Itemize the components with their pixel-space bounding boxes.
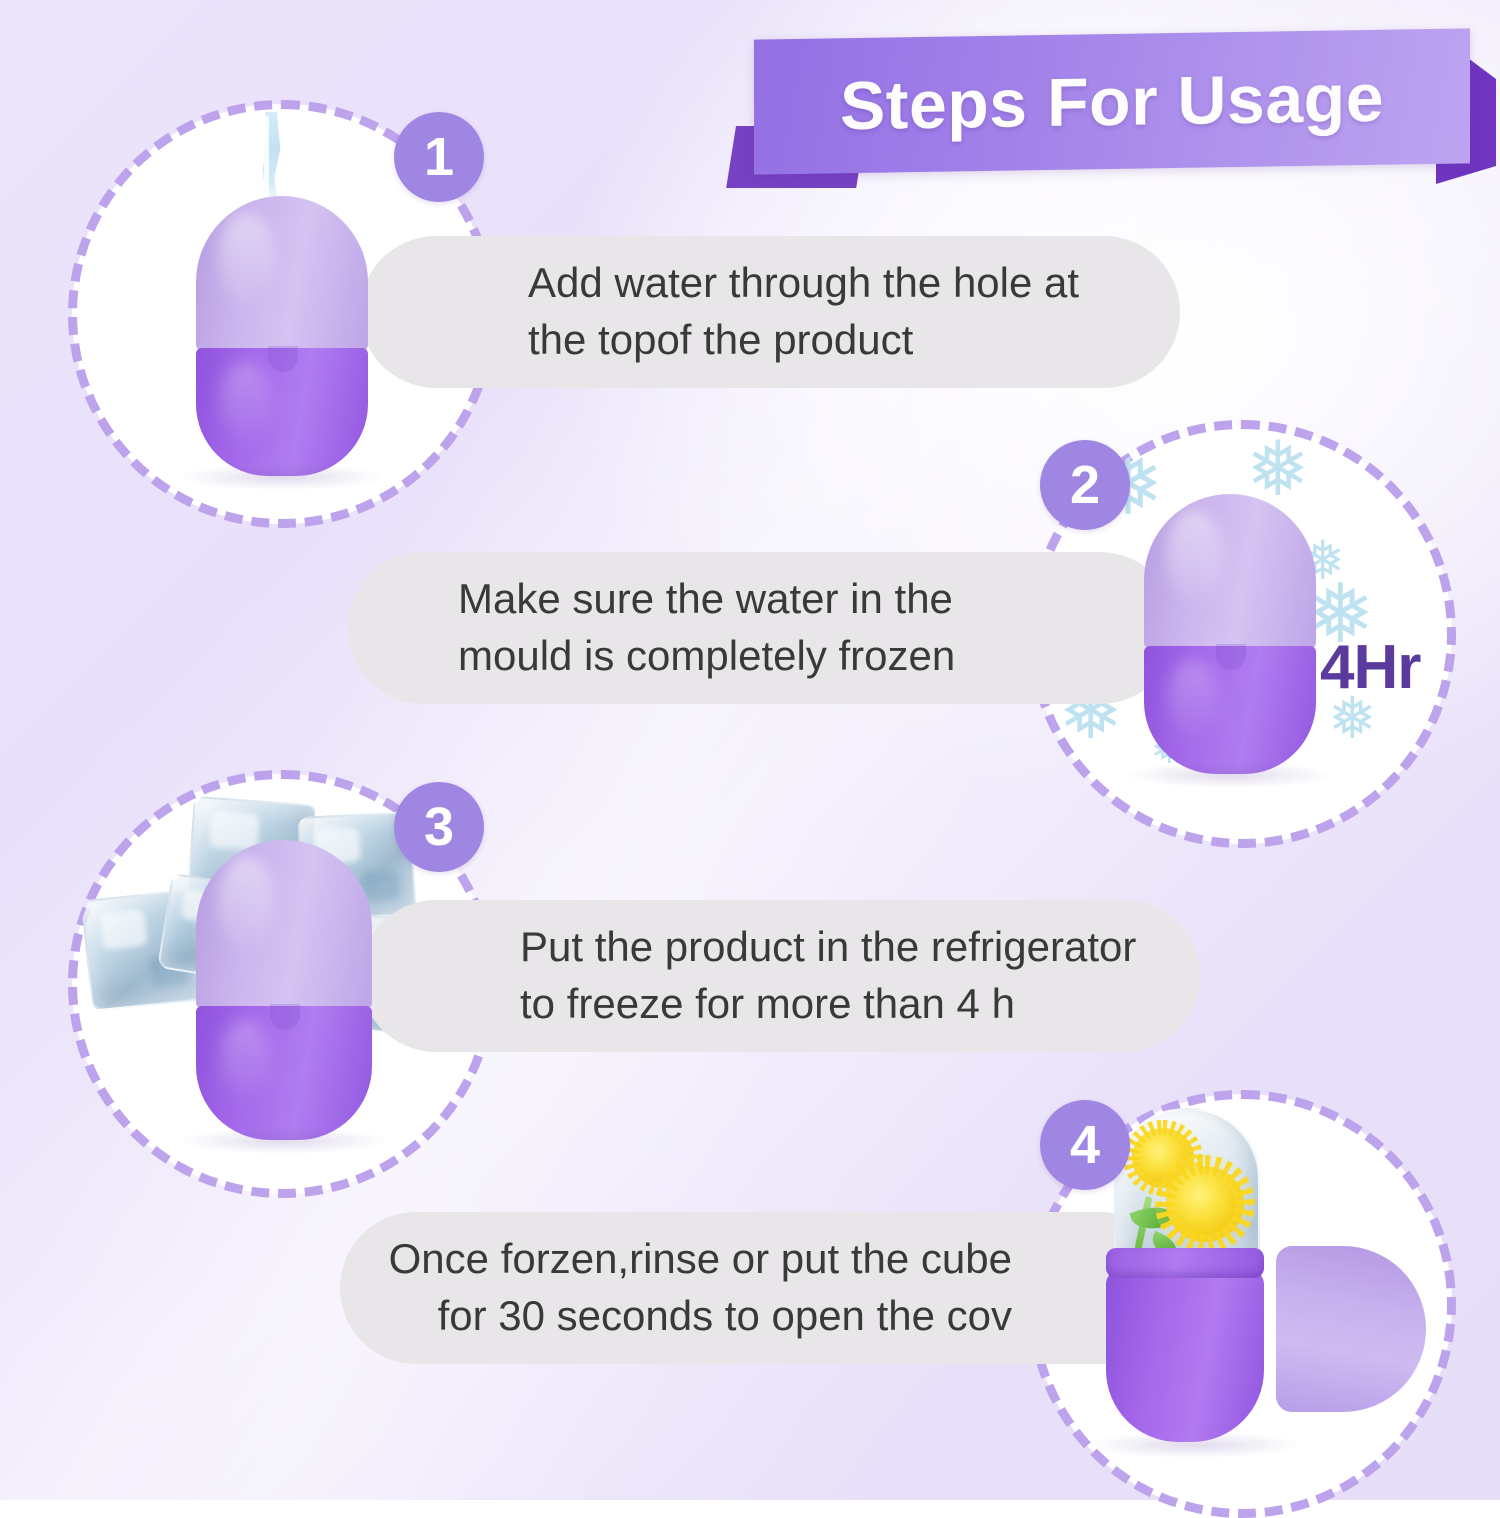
capsule-cap — [196, 840, 372, 1010]
step-4-number-badge: 4 — [1040, 1100, 1130, 1190]
product-capsule — [196, 196, 368, 476]
step-4-text-bubble: Once forzen,rinse or put the cube for 30… — [340, 1212, 1176, 1364]
step-2-text-bubble: Make sure the water in the mould is comp… — [348, 552, 1176, 704]
step-4-text: Once forzen,rinse or put the cube for 30… — [380, 1231, 1012, 1344]
header-banner: Steps For Usage — [736, 30, 1496, 190]
step-1-text-bubble: Add water through the hole at the topof … — [360, 236, 1180, 388]
capsule-shadow — [180, 464, 384, 490]
page-title: Steps For Usage — [754, 28, 1470, 174]
step-3-text-bubble: Put the product in the refrigerator to f… — [360, 900, 1200, 1052]
step-1-text: Add water through the hole at the topof … — [528, 255, 1140, 368]
duration-label: 4Hr — [1320, 632, 1420, 703]
capsule-shadow — [1128, 762, 1332, 788]
product-capsule — [196, 840, 372, 1140]
capsule-cap — [196, 196, 368, 352]
capsule-shadow — [180, 1128, 388, 1154]
product-capsule — [1144, 494, 1316, 774]
flower-ice-cube — [1114, 1108, 1260, 1270]
infographic-page: Steps For Usage Add water through the ho… — [0, 0, 1500, 1500]
capsule-cap — [1144, 494, 1316, 650]
dandelion-flower — [1166, 1166, 1244, 1242]
capsule-base — [1106, 1270, 1264, 1442]
step-2-number-badge: 2 — [1040, 440, 1130, 530]
capsule-base-rim — [1106, 1248, 1264, 1278]
step-1-number-badge: 1 — [394, 112, 484, 202]
step-2-text: Make sure the water in the mould is comp… — [458, 571, 1008, 684]
step-3-number-badge: 3 — [394, 782, 484, 872]
step-3-text: Put the product in the refrigerator to f… — [520, 919, 1160, 1032]
